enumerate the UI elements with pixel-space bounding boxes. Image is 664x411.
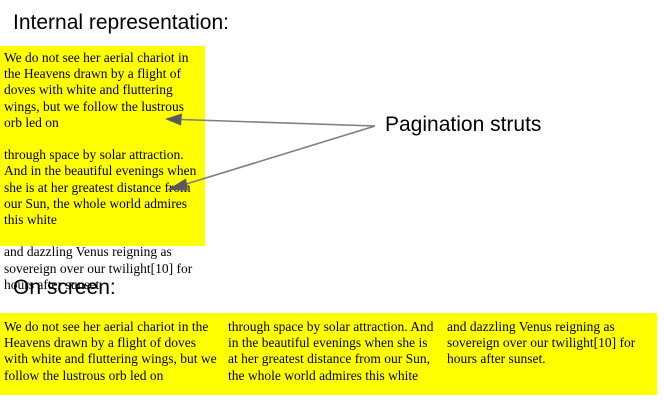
page-title-on-screen: On screen:: [13, 276, 116, 300]
on-screen-band: We do not see her aerial chariot in the …: [0, 313, 657, 395]
internal-paragraph-1: We do not see her aerial chariot in the …: [4, 50, 205, 131]
on-screen-column-2: through space by solar attraction. And i…: [228, 319, 440, 384]
internal-paragraph-2: through space by solar attraction. And i…: [4, 147, 205, 228]
page-title-internal-representation: Internal representation:: [13, 11, 229, 35]
on-screen-column-3: and dazzling Venus reigning as sovereign…: [447, 319, 657, 368]
internal-representation-block: We do not see her aerial chariot in the …: [0, 46, 205, 246]
on-screen-column-1: We do not see her aerial chariot in the …: [4, 319, 222, 384]
annotation-label-pagination-struts: Pagination struts: [385, 113, 541, 137]
strut-arrow-upper-line: [180, 120, 375, 127]
strut-arrow-lower-line: [183, 126, 375, 185]
